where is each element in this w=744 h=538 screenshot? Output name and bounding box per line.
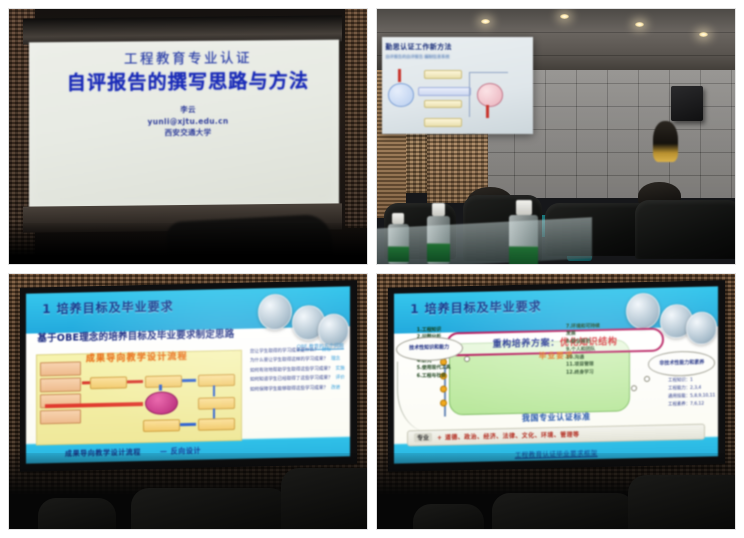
obe-question: 如何知道学生已经取得了这些学习成果？评价 <box>250 376 347 385</box>
slide-subtitle: 基于OBE理念的培养目标及毕业要求制定思路 <box>37 326 234 344</box>
obe-question-text: 如何有效地帮助学生取得这些学习成果？ <box>250 367 333 374</box>
slide-title-block: 工程教育专业认证 自评报告的撰写思路与方法 李云 yunli@xjtu.edu.… <box>9 51 367 140</box>
foreground-armchair <box>628 475 736 530</box>
foreground-armchair <box>492 493 635 530</box>
bottle-body <box>427 216 450 264</box>
slide-section-title: 培养目标及毕业要求 <box>56 300 173 317</box>
panel-room-audience: 勤思认证工作新方法 自评报告的自评报告 编制信息系统 <box>376 8 736 265</box>
slide-line2: 自评报告的撰写思路与方法 <box>9 71 367 95</box>
flow-arrow <box>126 381 142 384</box>
panel-obe-flow: 1培养目标及毕业要求 基于OBE理念的培养目标及毕业要求制定思路 OBE 教育的… <box>8 273 368 530</box>
obe-question-text: 如何知道学生已经取得了这些学习成果？ <box>250 376 333 383</box>
requirements-column-right: 7.环境和可持续 发展 8.职业规范 9.个人和团队 10.沟通 11.项目管理… <box>566 323 600 378</box>
obe-question-tag: 改进 <box>331 385 340 390</box>
banner-label: 重构培养方案： <box>492 338 559 350</box>
ceiling-downlight-icon <box>560 14 569 19</box>
flow-arrow <box>81 382 89 385</box>
obe-question: 如何有效地帮助学生取得这些学习成果？实施 <box>250 366 347 375</box>
diagram-box-top <box>424 70 463 79</box>
diagram-node-right <box>477 83 503 106</box>
requirement-item: 6.工程与社会 <box>416 373 452 382</box>
bottle-label <box>427 243 450 262</box>
flow-box <box>143 420 180 433</box>
screen-frame: 1培养目标及毕业要求 基于OBE理念的培养目标及毕业要求制定思路 OBE 教育的… <box>20 280 357 471</box>
input-box <box>40 362 81 376</box>
scope-band: 专业 + 道德、政治、经济、法律、文化、环境、管理等 <box>407 424 705 446</box>
ceiling-downlight-icon <box>635 22 644 27</box>
requirement-item: 12.终身学习 <box>566 369 600 378</box>
obe-question: 您让学生取得的学习成果是什么？目标 <box>250 348 347 357</box>
obe-question-text: 您让学生取得的学习成果是什么？ <box>250 348 319 355</box>
scope-tag: 专业 <box>414 433 432 442</box>
slide-header: 勤思认证工作新方法 自评报告的自评报告 编制信息系统 <box>385 42 529 58</box>
scope-text: + 道德、政治、经济、法律、文化、环境、管理等 <box>437 430 579 442</box>
slide-surface: 1培养目标及毕业要求 重构培养方案：优化知识结构 毕业要求 <box>394 286 718 464</box>
slide-section-title: 培养目标及毕业要求 <box>424 300 541 317</box>
slide-diagram <box>387 66 528 128</box>
slide-header-title: 1培养目标及毕业要求 <box>42 298 173 318</box>
panel-graduation-requirements: 1培养目标及毕业要求 重构培养方案：优化知识结构 毕业要求 <box>376 273 736 530</box>
armchair <box>635 200 736 258</box>
obe-question-text: 为什么要让学生取得这样的学习成果？ <box>250 357 328 364</box>
slide-title: 勤思认证工作新方法 <box>385 42 529 52</box>
foreground-armchair <box>38 498 117 530</box>
obe-question: 如何保障学生能够取得这些学习成果？改进 <box>250 385 347 394</box>
diagram-title: 成果导向教学设计流程 <box>86 349 188 364</box>
flow-box <box>198 374 235 387</box>
bottle-cap <box>432 203 445 216</box>
foreground-armchair <box>413 504 485 531</box>
photo-collage: 工程教育专业认证 自评报告的撰写思路与方法 李云 yunli@xjtu.edu.… <box>0 0 744 538</box>
bottle-label <box>388 246 409 262</box>
foreground-armchair <box>281 468 368 530</box>
cloud-callout-right: 非技术性能力和素养 <box>648 351 715 377</box>
feedback-arrow <box>45 402 143 408</box>
water-bottle <box>388 213 409 264</box>
flow-arrow <box>180 423 196 426</box>
obe-question-tag: 评价 <box>335 376 344 381</box>
flow-arrow <box>212 385 215 397</box>
panel-title-slide: 工程教育专业认证 自评报告的撰写思路与方法 李云 yunli@xjtu.edu.… <box>8 8 368 265</box>
requirement-notes: 工程知识：1 工程能力：2,3,4 通用技能：5,8,9,10,11 工程素养：… <box>668 377 715 411</box>
obe-question-text: 如何保障学生能够取得这些学习成果？ <box>250 386 328 393</box>
slide-line1: 工程教育专业认证 <box>9 51 367 69</box>
wall-speaker <box>671 86 703 122</box>
foreground-armchair <box>131 488 289 530</box>
bottle-cap <box>516 200 532 215</box>
flow-diagram: 成果导向教学设计流程 <box>36 350 242 445</box>
diagram-arrow-down <box>486 105 489 119</box>
water-bottle <box>509 200 538 265</box>
foreground-shadow <box>9 223 367 264</box>
bottle-body <box>388 224 409 264</box>
slide-subtitle: 自评报告的自评报告 编制信息系统 <box>385 54 529 60</box>
obe-question-list: 您让学生取得的学习成果是什么？目标 为什么要让学生取得这样的学习成果？理念 如何… <box>250 348 347 439</box>
flow-box <box>198 397 235 410</box>
flow-arrow <box>159 385 162 391</box>
center-node <box>145 391 178 415</box>
bottle-cap <box>392 213 404 224</box>
projection-screen: 勤思认证工作新方法 自评报告的自评报告 编制信息系统 <box>382 37 532 134</box>
diagram-box-mid2 <box>424 100 463 109</box>
flow-box <box>145 375 182 388</box>
obe-question-tag: 理念 <box>331 357 340 362</box>
diagram-node-left <box>388 83 414 106</box>
diagram-box-bottom <box>424 118 463 127</box>
obe-question-tag: 实施 <box>335 366 344 371</box>
input-box <box>40 410 81 424</box>
bottle-body <box>509 215 538 265</box>
diagram-box-mid <box>418 87 471 96</box>
slide-section-number: 1 <box>42 302 51 316</box>
flow-box <box>198 419 235 432</box>
diagram-connector <box>469 72 470 117</box>
diagram-connector <box>469 72 509 73</box>
obe-question: 为什么要让学生取得这样的学习成果？理念 <box>250 357 347 366</box>
flow-box <box>90 377 127 390</box>
slide-section-number: 1 <box>410 302 419 316</box>
globe-icon <box>685 312 716 345</box>
slide-header-title: 1培养目标及毕业要求 <box>410 298 541 318</box>
diagram-arrow-up <box>398 69 401 83</box>
ceiling-seam-1 <box>377 32 735 33</box>
obe-question-tag: 目标 <box>322 348 331 353</box>
screen-frame: 1培养目标及毕业要求 重构培养方案：优化知识结构 毕业要求 <box>388 280 725 471</box>
water-bottle <box>427 203 450 264</box>
bottle-label <box>509 246 538 265</box>
flow-arrow <box>212 408 215 418</box>
input-box <box>40 378 81 392</box>
building-icon <box>625 292 659 329</box>
marker-dot <box>644 376 650 382</box>
slide-author-block: 李云 yunli@xjtu.edu.cn 西安交通大学 <box>9 103 367 140</box>
slide-surface: 1培养目标及毕业要求 基于OBE理念的培养目标及毕业要求制定思路 OBE 教育的… <box>26 286 350 464</box>
flow-arrow <box>182 379 196 382</box>
marker-dot <box>631 385 637 391</box>
